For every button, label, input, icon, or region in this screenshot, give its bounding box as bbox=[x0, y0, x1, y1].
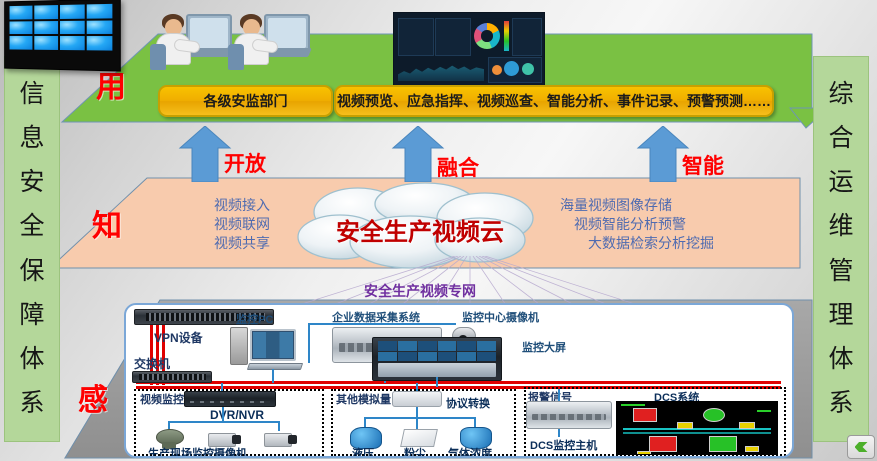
box-safety-supervision-departments[interactable]: 各级安监部门 bbox=[158, 85, 333, 117]
pillar-char: 体 bbox=[19, 347, 44, 372]
pillar-char: 综 bbox=[828, 82, 853, 107]
green-arrow-badge-icon[interactable] bbox=[847, 435, 875, 459]
sensor-drop bbox=[416, 407, 418, 429]
private-network-label: 安全生产视频专网 bbox=[364, 281, 476, 301]
pillar-char: 管 bbox=[828, 259, 853, 284]
pillar-char: 信 bbox=[19, 82, 44, 107]
red-bus-line bbox=[136, 381, 781, 384]
converter-uplink bbox=[416, 383, 418, 391]
pillar-char: 系 bbox=[828, 391, 853, 416]
green-arrow-glyph bbox=[855, 442, 868, 452]
label-big-screen: 监控大屏 bbox=[522, 339, 566, 355]
platform-right-item: 海量视频图像存储 bbox=[560, 196, 770, 215]
box-camera-icon bbox=[264, 431, 298, 447]
label-hydraulic: 液压 bbox=[352, 445, 374, 458]
camera-drop bbox=[222, 407, 224, 423]
camera-bus bbox=[168, 421, 280, 423]
pillar-char: 保 bbox=[19, 259, 44, 284]
keyboard-icon bbox=[247, 363, 303, 370]
arrow-label-open: 开放 bbox=[224, 148, 266, 178]
label-site-cameras: 生产现场监控摄像机 bbox=[148, 445, 247, 458]
monitor-big-screen-icon bbox=[372, 337, 502, 381]
diagram-canvas: 信 息 安 全 保 障 体 系 综 合 运 维 管 理 体 系 用 知 感 bbox=[0, 0, 877, 461]
camera-drop bbox=[278, 421, 280, 431]
layer-tag-perception: 感 bbox=[78, 375, 108, 419]
label-gas-concentration: 气体浓度 bbox=[448, 445, 492, 458]
arrow-label-intelligent: 智能 bbox=[682, 150, 724, 180]
video-wall-icon bbox=[4, 0, 121, 72]
dvr-nvr-icon bbox=[184, 391, 276, 407]
sensor-bus bbox=[364, 417, 476, 419]
operators-at-computers-icon bbox=[150, 8, 310, 70]
pillar-char: 全 bbox=[19, 214, 44, 239]
pillar-information-security: 信 息 安 全 保 障 体 系 bbox=[4, 56, 60, 442]
perception-panel: VPN设备 交换机 监控PC 企业数据采集系统 监控中心摄像机 bbox=[124, 303, 794, 458]
layer-tag-platform: 知 bbox=[92, 201, 122, 245]
pillar-char: 维 bbox=[828, 214, 853, 239]
label-dvr-nvr: DVR/NVR bbox=[210, 408, 264, 422]
protocol-converter-icon bbox=[392, 391, 442, 407]
label-monitor-pc: 监控PC bbox=[236, 311, 273, 327]
label-vpn-device: VPN设备 bbox=[154, 329, 203, 346]
box-label: 各级安监部门 bbox=[204, 91, 288, 111]
platform-left-items: 视频接入 视频联网 视频共享 bbox=[120, 196, 270, 253]
label-dust: 粉尘 bbox=[404, 445, 426, 458]
pillar-char: 理 bbox=[828, 303, 853, 328]
label-dcs-host: DCS监控主机 bbox=[530, 437, 597, 453]
dcs-hmi-screenshot-icon bbox=[616, 401, 778, 455]
platform-right-item: 大数据检索分析挖掘 bbox=[560, 234, 770, 253]
platform-right-items: 海量视频图像存储 视频智能分析预警 大数据检索分析挖掘 bbox=[560, 196, 770, 253]
platform-left-item: 视频接入 bbox=[120, 196, 270, 215]
box-application-functions[interactable]: 视频预览、应急指挥、视频巡查、智能分析、事件记录、预警预测…… bbox=[334, 85, 774, 117]
box-label: 视频预览、应急指挥、视频巡查、智能分析、事件记录、预警预测…… bbox=[337, 91, 771, 111]
switch-device-icon bbox=[132, 371, 212, 383]
pc-monitor-icon bbox=[250, 329, 296, 361]
arrow-label-converge: 融合 bbox=[437, 152, 479, 182]
pillar-char: 体 bbox=[828, 347, 853, 372]
label-analog-signals: 其他模拟量 bbox=[336, 391, 391, 407]
dcs-uplink bbox=[558, 389, 560, 401]
pillar-operations-management: 综 合 运 维 管 理 体 系 bbox=[813, 56, 869, 442]
label-switch: 交换机 bbox=[134, 355, 170, 372]
pc-tower-icon bbox=[230, 327, 248, 365]
dcs-downlink bbox=[558, 429, 560, 437]
bi-dashboard-screen-icon bbox=[393, 12, 545, 86]
dvr-uplink bbox=[221, 383, 223, 391]
platform-left-item: 视频共享 bbox=[120, 234, 270, 253]
platform-left-item: 视频联网 bbox=[120, 215, 270, 234]
camera-link-h bbox=[308, 323, 456, 325]
camera-link-v bbox=[308, 323, 310, 363]
label-control-center-camera: 监控中心摄像机 bbox=[462, 309, 539, 325]
bigscreen-link bbox=[436, 377, 438, 387]
dcs-host-icon bbox=[526, 401, 612, 429]
pillar-char: 障 bbox=[19, 303, 44, 328]
pillar-char: 系 bbox=[19, 391, 44, 416]
cloud-label: 安全生产视频云 bbox=[336, 212, 504, 247]
label-protocol-conversion: 协议转换 bbox=[446, 395, 490, 411]
platform-right-item: 视频智能分析预警 bbox=[560, 215, 770, 234]
pc-link bbox=[272, 369, 274, 383]
label-video-surveillance: 视频监控 bbox=[140, 391, 184, 407]
